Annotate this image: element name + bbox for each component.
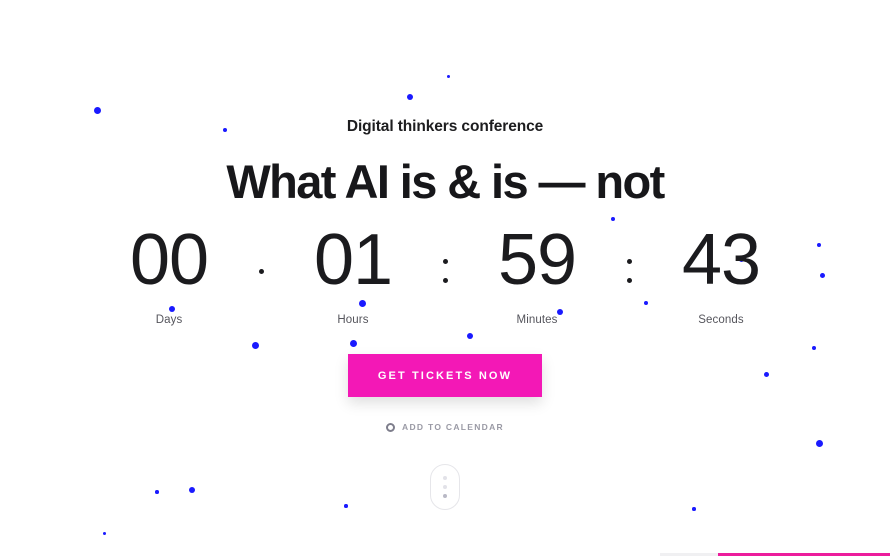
- circle-plus-icon: [386, 423, 395, 432]
- countdown-unit-minutes: 59 Minutes: [455, 224, 619, 326]
- countdown-separator-dot: [251, 224, 271, 296]
- scroll-dot-3: [443, 494, 447, 498]
- cta-container: GET TICKETS NOW: [0, 354, 890, 397]
- countdown-seconds-value: 43: [639, 224, 803, 296]
- page-title: What AI is & is — not: [0, 157, 890, 206]
- event-eyebrow: Digital thinkers conference: [0, 118, 890, 136]
- countdown-seconds-label: Seconds: [639, 314, 803, 326]
- scroll-dot-2: [443, 485, 447, 489]
- particle-dot: [103, 532, 106, 535]
- countdown-separator-colon-2: [619, 224, 639, 296]
- landing-page: Digital thinkers conference What AI is &…: [0, 0, 890, 556]
- countdown-days-value: 00: [87, 224, 251, 296]
- hero-section: Digital thinkers conference What AI is &…: [0, 0, 890, 510]
- scroll-dot-1: [443, 476, 447, 480]
- countdown-hours-value: 01: [271, 224, 435, 296]
- scroll-indicator-container: [0, 437, 890, 510]
- scroll-mouse-icon[interactable]: [430, 464, 460, 510]
- add-to-calendar-container: ADD TO CALENDAR: [0, 397, 890, 437]
- countdown-unit-hours: 01 Hours: [271, 224, 435, 326]
- add-to-calendar-label: ADD TO CALENDAR: [402, 422, 504, 432]
- get-tickets-button[interactable]: GET TICKETS NOW: [348, 354, 542, 397]
- countdown-hours-label: Hours: [271, 314, 435, 326]
- countdown-minutes-value: 59: [455, 224, 619, 296]
- countdown-unit-seconds: 43 Seconds: [639, 224, 803, 326]
- countdown-separator-colon-1: [435, 224, 455, 296]
- countdown-days-label: Days: [87, 314, 251, 326]
- add-to-calendar-link[interactable]: ADD TO CALENDAR: [386, 422, 504, 432]
- countdown-timer: 00 Days 01 Hours 59 Minutes 43: [0, 224, 890, 326]
- countdown-unit-days: 00 Days: [87, 224, 251, 326]
- countdown-minutes-label: Minutes: [455, 314, 619, 326]
